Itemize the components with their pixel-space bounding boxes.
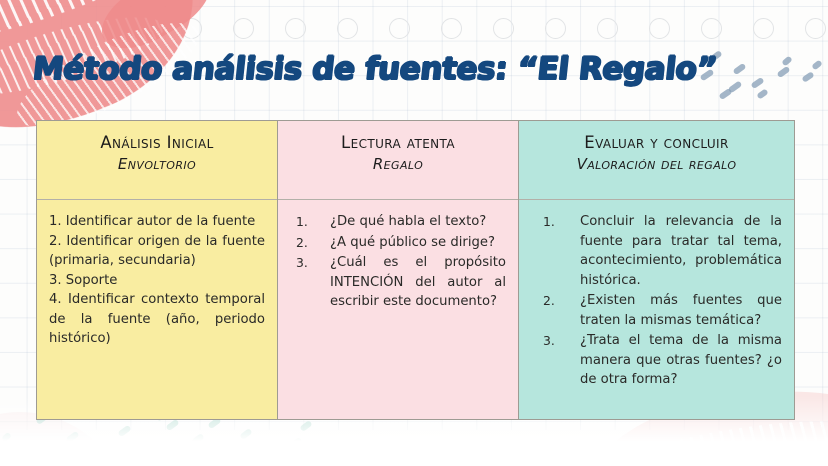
analysis-method-table: Análisis Inicial Envoltorio 1. Identific…: [36, 120, 795, 420]
circle-icon: [805, 18, 826, 39]
list-item: 2. Identificar origen de la fuente (prim…: [49, 232, 265, 271]
list-item: 3. Soporte: [49, 271, 265, 291]
column-header-line1: Evaluar y concluir: [519, 132, 794, 154]
column-body: Concluir la relevancia de la fuente para…: [519, 200, 794, 419]
blue-dash-icon: [811, 60, 823, 71]
blue-dash-icon: [728, 80, 743, 93]
circle-icon: [701, 18, 722, 39]
green-dash-icon: [261, 443, 273, 454]
circle-icon: [649, 18, 670, 39]
green-dash-icon: [299, 420, 312, 432]
list-item: 4. Identificar contexto temporal de la f…: [49, 290, 265, 349]
item-list: ¿De qué habla el texto? ¿A qué público s…: [290, 212, 506, 312]
list-item: 1. Identificar autor de la fuente: [49, 212, 265, 232]
table-column-evaluar-y-concluir: Evaluar y concluir Valoración del regalo…: [519, 121, 794, 419]
green-dash-icon: [239, 428, 252, 440]
column-header: Lectura atenta Regalo: [278, 121, 518, 200]
blue-dash-icon: [801, 71, 814, 83]
circle-icon: [389, 18, 410, 39]
blue-dash-icon: [750, 77, 764, 89]
circle-icon: [545, 18, 566, 39]
column-header-line2: Envoltorio: [37, 154, 277, 174]
page-title: Método análisis de fuentes: “El Regalo”: [31, 52, 675, 86]
list-item: ¿De qué habla el texto?: [290, 212, 506, 232]
circle-icon: [441, 18, 462, 39]
green-dash-icon: [191, 433, 204, 445]
item-list: Concluir la relevancia de la fuente para…: [531, 212, 782, 390]
circle-icon: [597, 18, 618, 39]
column-header-line2: Valoración del regalo: [519, 154, 794, 174]
green-dash-icon: [145, 440, 158, 452]
list-item: Concluir la relevancia de la fuente para…: [531, 212, 782, 290]
blue-dash-icon: [718, 88, 732, 100]
blue-dash-icon: [776, 66, 790, 78]
green-dash-icon: [289, 437, 302, 449]
list-item: ¿A qué público se dirige?: [290, 233, 506, 253]
green-dash-icon: [165, 419, 179, 431]
blue-dash-icon: [781, 55, 793, 66]
circle-icon: [285, 18, 306, 39]
column-body: 1. Identificar autor de la fuente 2. Ide…: [37, 200, 277, 419]
column-header-line2: Regalo: [278, 154, 518, 174]
column-body: ¿De qué habla el texto? ¿A qué público s…: [278, 200, 518, 419]
blue-dash-icon: [732, 63, 746, 75]
circle-icon: [233, 18, 254, 39]
blue-dash-icon: [756, 88, 768, 99]
list-item: ¿Trata el tema de la misma manera que ot…: [531, 331, 782, 390]
green-dash-icon: [117, 425, 131, 437]
decorative-circle-row: [181, 18, 826, 39]
table-column-lectura-atenta: Lectura atenta Regalo ¿De qué habla el t…: [278, 121, 519, 419]
list-item: ¿Existen más fuentes que traten la misma…: [531, 291, 782, 330]
column-header: Evaluar y concluir Valoración del regalo: [519, 121, 794, 200]
circle-icon: [493, 18, 514, 39]
column-header-line1: Lectura atenta: [278, 132, 518, 154]
column-header-line1: Análisis Inicial: [37, 132, 277, 154]
item-list: 1. Identificar autor de la fuente 2. Ide…: [49, 212, 265, 349]
circle-icon: [337, 18, 358, 39]
list-item: ¿Cuál es el propósito INTENCIÓN del auto…: [290, 253, 506, 312]
slide-canvas: Método análisis de fuentes: “El Regalo” …: [0, 0, 828, 466]
table-column-analisis-inicial: Análisis Inicial Envoltorio 1. Identific…: [37, 121, 278, 419]
column-header: Análisis Inicial Envoltorio: [37, 121, 277, 200]
circle-icon: [753, 18, 774, 39]
